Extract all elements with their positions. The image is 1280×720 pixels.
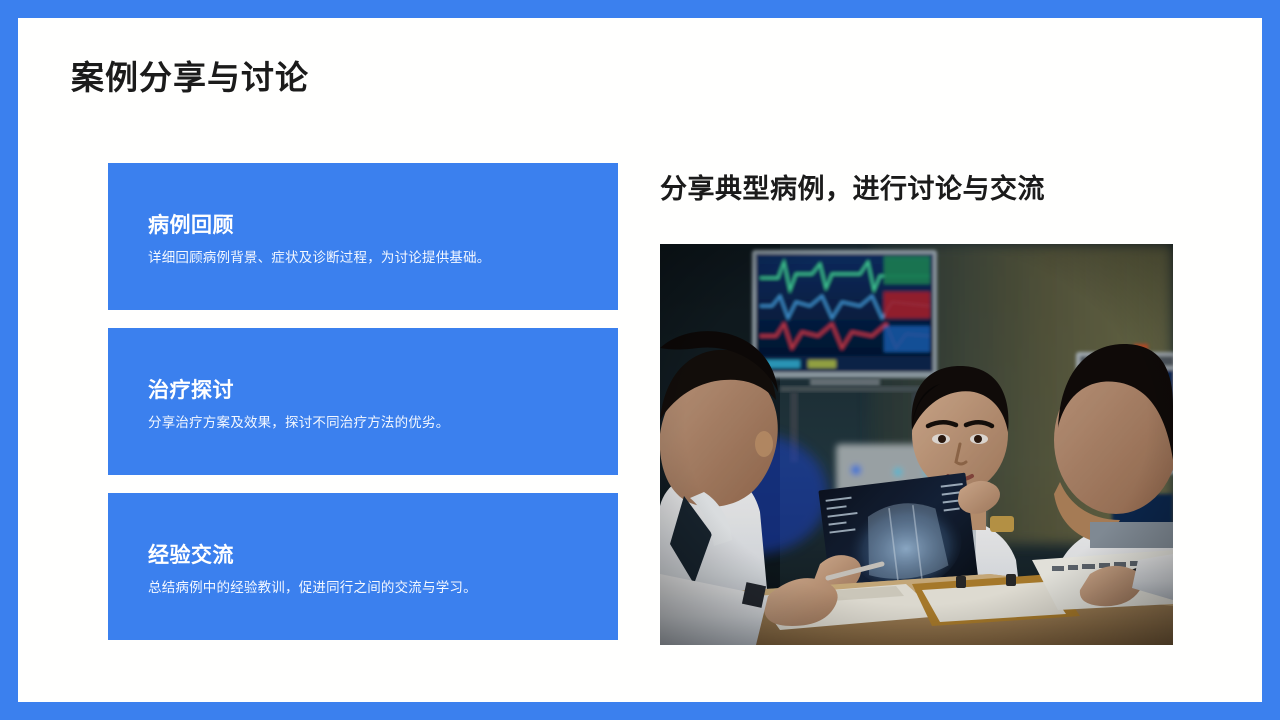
info-card-heading: 病例回顾	[148, 213, 596, 239]
info-card-text: 分享治疗方案及效果，探讨不同治疗方法的优劣。	[148, 413, 596, 433]
info-card[interactable]: 经验交流 总结病例中的经验教训，促进同行之间的交流与学习。	[108, 493, 618, 640]
info-card[interactable]: 病例回顾 详细回顾病例背景、症状及诊断过程，为讨论提供基础。	[108, 163, 618, 310]
info-card-body: 经验交流 总结病例中的经验教训，促进同行之间的交流与学习。	[148, 543, 596, 598]
info-card-heading: 经验交流	[148, 543, 596, 569]
photo-illustration	[660, 244, 1173, 645]
info-card[interactable]: 治疗探讨 分享治疗方案及效果，探讨不同治疗方法的优劣。	[108, 328, 618, 475]
info-card-body: 治疗探讨 分享治疗方案及效果，探讨不同治疗方法的优劣。	[148, 378, 596, 433]
info-card-text: 总结病例中的经验教训，促进同行之间的交流与学习。	[148, 578, 596, 598]
info-card-list: 病例回顾 详细回顾病例背景、症状及诊断过程，为讨论提供基础。 治疗探讨 分享治疗…	[108, 163, 618, 658]
info-card-heading: 治疗探讨	[148, 378, 596, 404]
slide-root: 案例分享与讨论 病例回顾 详细回顾病例背景、症状及诊断过程，为讨论提供基础。 治…	[0, 0, 1280, 720]
slide-content-area: 案例分享与讨论 病例回顾 详细回顾病例背景、症状及诊断过程，为讨论提供基础。 治…	[18, 18, 1262, 702]
doctors-case-discussion-photo	[660, 244, 1173, 645]
info-card-body: 病例回顾 详细回顾病例背景、症状及诊断过程，为讨论提供基础。	[148, 213, 596, 268]
section-heading: 分享典型病例，进行讨论与交流	[660, 173, 1045, 207]
info-card-text: 详细回顾病例背景、症状及诊断过程，为讨论提供基础。	[148, 248, 596, 268]
page-title: 案例分享与讨论	[71, 58, 309, 98]
